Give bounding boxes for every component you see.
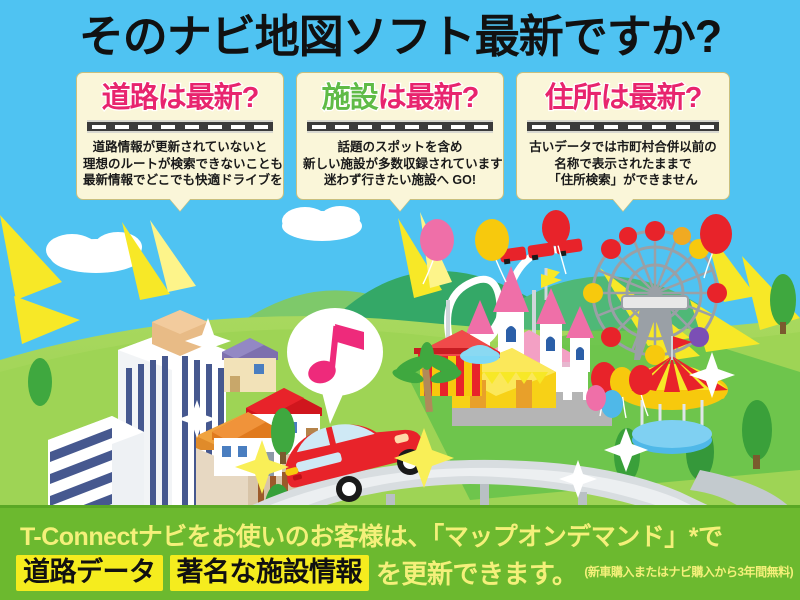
callout-facility-title: 施設は最新? xyxy=(303,81,497,115)
banner-subline: 道路データ 著名な施設情報 を更新できます。 (新車購入またはナビ購入から3年間… xyxy=(16,554,793,591)
callout-road: 道路は最新? 道路情報が更新されていないと 理想のルートが検索できないことも 最… xyxy=(76,72,284,200)
callout-facility-line3: 迷わず行きたい施設へ GO! xyxy=(303,172,497,189)
callout-road-tail xyxy=(169,198,191,211)
highlight-road-data: 道路データ xyxy=(16,555,163,591)
callout-road-title-rest: は最新? xyxy=(158,82,259,114)
callout-road-line1: 道路情報が更新されていないと xyxy=(83,139,277,156)
callout-address-line2: 名称で表示されたままで xyxy=(523,156,723,173)
callout-facility-title-main: 施設 xyxy=(322,82,378,114)
callout-facility-tail xyxy=(389,198,411,211)
callout-facility: 施設は最新? 話題のスポットを含め 新しい施設が多数収録されています 迷わず行き… xyxy=(296,72,504,200)
callout-road-title-main: 道路 xyxy=(102,82,158,114)
road-divider-icon xyxy=(307,120,493,133)
page-title: そのナビ地図ソフト最新ですか? xyxy=(0,6,800,68)
callout-road-line3: 最新情報でどこでも快適ドライブを xyxy=(83,172,277,189)
banner-headline: T-Connectナビをお使いのお客様は、「マップオンデマンド」*で xyxy=(20,517,722,553)
callout-address-tail xyxy=(612,198,634,211)
road-divider-icon xyxy=(87,120,273,133)
banner-tail-text: を更新できます。 xyxy=(376,554,577,591)
callout-facility-line2: 新しい施設が多数収録されています xyxy=(303,156,497,173)
callout-address: 住所は最新? 古いデータでは市町村合併以前の 名称で表示されたままで 「住所検索… xyxy=(516,72,730,200)
bottom-banner: T-Connectナビをお使いのお客様は、「マップオンデマンド」*で 道路データ… xyxy=(0,505,800,600)
callout-address-title-main: 住所 xyxy=(545,82,601,114)
callout-facility-title-rest: は最新? xyxy=(378,82,479,114)
callout-road-line2: 理想のルートが検索できないことも xyxy=(83,156,277,173)
callout-address-title-rest: は最新? xyxy=(601,82,702,114)
callout-road-title: 道路は最新? xyxy=(83,81,277,115)
callout-group: 道路は最新? 道路情報が更新されていないと 理想のルートが検索できないことも 最… xyxy=(0,72,800,212)
callout-facility-line1: 話題のスポットを含め xyxy=(303,139,497,156)
advertisement-poster: そのナビ地図ソフト最新ですか? 道路は最新? 道路情報が更新されていないと 理想… xyxy=(0,0,800,600)
banner-fineprint: (新車購入またはナビ購入から3年間無料) xyxy=(584,563,793,582)
road-divider-icon xyxy=(527,120,719,133)
highlight-facility-info: 著名な施設情報 xyxy=(170,555,370,591)
callout-address-title: 住所は最新? xyxy=(523,81,723,115)
callout-address-line1: 古いデータでは市町村合併以前の xyxy=(523,139,723,156)
callout-address-line3: 「住所検索」ができません xyxy=(523,172,723,189)
